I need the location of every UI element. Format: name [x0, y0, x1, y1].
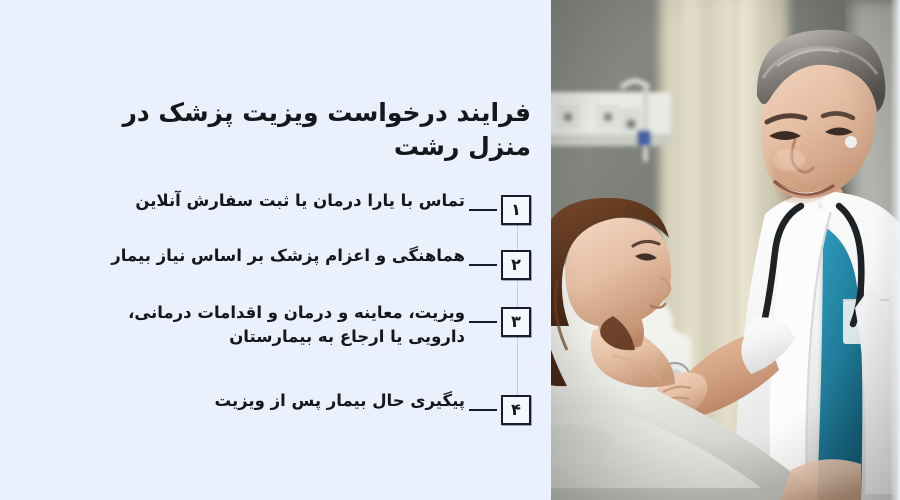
step-dash-icon	[469, 409, 497, 411]
step-dash-icon	[469, 209, 497, 211]
step-item: ۴ پیگیری حال بیمار پس از ویزیت	[71, 386, 531, 433]
step-label: پیگیری حال بیمار پس از ویزیت	[71, 386, 465, 413]
step-marker: ۴	[465, 386, 531, 433]
step-number-badge: ۳	[501, 307, 531, 337]
infographic-page: فرایند درخواست ویزیت پزشک در منزل رشت ۱ …	[0, 0, 900, 500]
step-dash-icon	[469, 321, 497, 323]
step-marker: ۳	[465, 298, 531, 345]
step-item: ۲ هماهنگی و اعزام پزشک بر اساس نیاز بیما…	[71, 241, 531, 298]
step-number-badge: ۴	[501, 395, 531, 425]
step-label: تماس با یارا درمان یا ثبت سفارش آنلاین	[71, 186, 465, 213]
step-marker: ۱	[465, 186, 531, 233]
doctor-examining-patient-photo	[551, 0, 900, 500]
page-title: فرایند درخواست ویزیت پزشک در منزل رشت	[71, 96, 531, 163]
step-label: ویزیت، معاینه و درمان و اقدامات درمانی، …	[71, 298, 465, 350]
step-label: هماهنگی و اعزام پزشک بر اساس نیاز بیمار	[71, 241, 465, 268]
step-number-badge: ۲	[501, 250, 531, 280]
step-number-badge: ۱	[501, 195, 531, 225]
step-item: ۱ تماس با یارا درمان یا ثبت سفارش آنلاین	[71, 186, 531, 241]
step-marker: ۲	[465, 241, 531, 288]
photo-pane	[551, 0, 900, 500]
content-pane: فرایند درخواست ویزیت پزشک در منزل رشت ۱ …	[0, 0, 551, 500]
steps-list: ۱ تماس با یارا درمان یا ثبت سفارش آنلاین…	[71, 186, 531, 433]
step-dash-icon	[469, 264, 497, 266]
step-item: ۳ ویزیت، معاینه و درمان و اقدامات درمانی…	[71, 298, 531, 386]
